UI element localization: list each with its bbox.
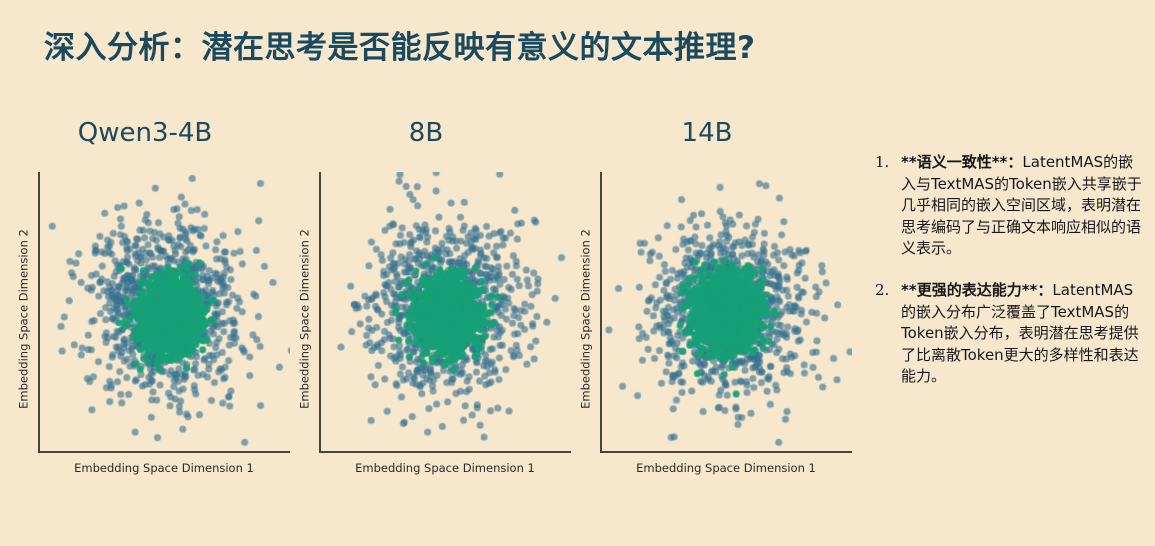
page-title: 深入分析：潜在思考是否能反映有意义的文本推理? [44, 22, 755, 67]
plot-area-1 [38, 172, 290, 453]
scatter-canvas-3 [602, 172, 852, 451]
note-marker-2: 2. [875, 280, 901, 302]
scatter-figure: Qwen3-4B Embedding Space Dimension 2 Emb… [0, 110, 870, 510]
scatter-canvas-1 [40, 172, 290, 451]
note-body-1: **语义一致性**：LatentMAS的嵌入与TextMAS的Token嵌入共享… [901, 152, 1147, 260]
note-marker-1: 1. [875, 152, 901, 174]
scatter-panel-2: 8B Embedding Space Dimension 2 Embedding… [281, 110, 571, 510]
scatter-panel-1: Qwen3-4B Embedding Space Dimension 2 Emb… [0, 110, 290, 510]
x-axis-label-1: Embedding Space Dimension 1 [38, 461, 290, 475]
y-axis-label-2: Embedding Space Dimension 2 [298, 179, 312, 460]
note-body-2: **更强的表达能力**：LatentMAS的嵌入分布广泛覆盖了TextMAS的T… [901, 280, 1147, 388]
plot-area-3 [600, 172, 852, 453]
note-item-1: 1. **语义一致性**：LatentMAS的嵌入与TextMAS的Token嵌… [875, 152, 1147, 260]
x-axis-label-2: Embedding Space Dimension 1 [319, 461, 571, 475]
analysis-notes: 1. **语义一致性**：LatentMAS的嵌入与TextMAS的Token嵌… [875, 152, 1147, 408]
note-item-2: 2. **更强的表达能力**：LatentMAS的嵌入分布广泛覆盖了TextMA… [875, 280, 1147, 388]
note-heading-2: **更强的表达能力**： [901, 281, 1052, 299]
plot-area-2 [319, 172, 571, 453]
scatter-canvas-2 [321, 172, 571, 451]
x-axis-label-3: Embedding Space Dimension 1 [600, 461, 852, 475]
panel-title-14b: 14B [562, 118, 852, 148]
y-axis-label-3: Embedding Space Dimension 2 [579, 179, 593, 460]
panel-title-qwen3-4b: Qwen3-4B [0, 118, 290, 148]
slide-root: { "slide": { "title": "深入分析：潜在思考是否能反映有意义… [0, 0, 1155, 546]
y-axis-label-1: Embedding Space Dimension 2 [17, 179, 31, 460]
scatter-panel-3: 14B Embedding Space Dimension 2 Embeddin… [562, 110, 852, 510]
note-heading-1: **语义一致性**： [901, 153, 1022, 171]
panel-title-8b: 8B [281, 118, 571, 148]
